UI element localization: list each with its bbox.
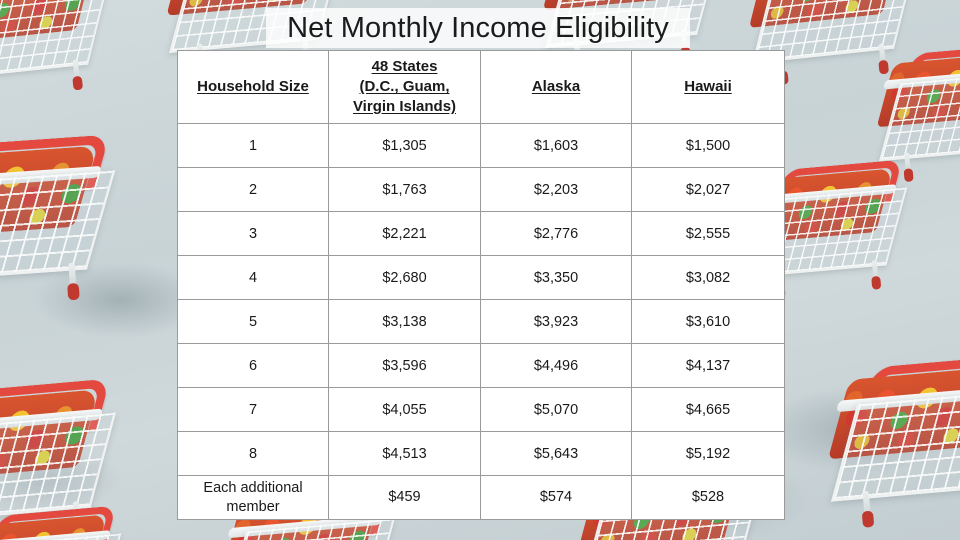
shopping-cart-icon: [879, 38, 960, 169]
cell-alaska: $5,643: [481, 432, 632, 476]
cell-alaska: $574: [481, 476, 632, 520]
cell-alaska: $4,496: [481, 344, 632, 388]
column-header-48-states: 48 States (D.C., Guam, Virgin Islands): [329, 51, 481, 124]
cell-hawaii: $4,665: [632, 388, 785, 432]
cell-hawaii: $528: [632, 476, 785, 520]
cell-household-size: 5: [178, 300, 329, 344]
title-banner: Net Monthly Income Eligibility: [266, 8, 690, 48]
table-row: 7 $4,055 $5,070 $4,665: [178, 388, 785, 432]
cell-alaska: $3,923: [481, 300, 632, 344]
shopping-cart-icon: [831, 347, 960, 510]
table-row: 4 $2,680 $3,350 $3,082: [178, 256, 785, 300]
table-row: 2 $1,763 $2,203 $2,027: [178, 168, 785, 212]
cell-household-size: 3: [178, 212, 329, 256]
table-row: 6 $3,596 $4,496 $4,137: [178, 344, 785, 388]
cell-48-states: $3,596: [329, 344, 481, 388]
table-header-row: Household Size 48 States (D.C., Guam, Vi…: [178, 51, 785, 124]
table-row: Each additional member $459 $574 $528: [178, 476, 785, 520]
cell-household-size: 6: [178, 344, 329, 388]
cell-alaska: $2,203: [481, 168, 632, 212]
cell-hawaii: $2,555: [632, 212, 785, 256]
cell-48-states: $2,680: [329, 256, 481, 300]
cell-hawaii: $5,192: [632, 432, 785, 476]
cell-alaska: $2,776: [481, 212, 632, 256]
cell-48-states: $4,513: [329, 432, 481, 476]
column-header-hawaii: Hawaii: [632, 51, 785, 124]
cell-household-size: 4: [178, 256, 329, 300]
cell-hawaii: $1,500: [632, 124, 785, 168]
net-monthly-income-table: Household Size 48 States (D.C., Guam, Vi…: [177, 50, 785, 520]
cell-household-size: Each additional member: [178, 476, 329, 520]
cell-48-states: $1,305: [329, 124, 481, 168]
slide: Net Monthly Income Eligibility Household…: [0, 0, 960, 540]
cell-hawaii: $4,137: [632, 344, 785, 388]
cell-48-states: $4,055: [329, 388, 481, 432]
table-row: 5 $3,138 $3,923 $3,610: [178, 300, 785, 344]
cell-48-states: $2,221: [329, 212, 481, 256]
shopping-cart-icon: [0, 127, 118, 291]
table-row: 1 $1,305 $1,603 $1,500: [178, 124, 785, 168]
cell-48-states: $459: [329, 476, 481, 520]
page-title: Net Monthly Income Eligibility: [287, 14, 669, 43]
cell-alaska: $1,603: [481, 124, 632, 168]
cell-household-size: 2: [178, 168, 329, 212]
cell-alaska: $3,350: [481, 256, 632, 300]
cell-48-states: $1,763: [329, 168, 481, 212]
cell-alaska: $5,070: [481, 388, 632, 432]
cell-hawaii: $3,082: [632, 256, 785, 300]
cell-household-size: 1: [178, 124, 329, 168]
cell-household-size: 8: [178, 432, 329, 476]
table-row: 3 $2,221 $2,776 $2,555: [178, 212, 785, 256]
table-row: 8 $4,513 $5,643 $5,192: [178, 432, 785, 476]
column-header-household-size: Household Size: [178, 51, 329, 124]
cell-hawaii: $3,610: [632, 300, 785, 344]
cell-household-size: 7: [178, 388, 329, 432]
cell-hawaii: $2,027: [632, 168, 785, 212]
column-header-alaska: Alaska: [481, 51, 632, 124]
cell-48-states: $3,138: [329, 300, 481, 344]
